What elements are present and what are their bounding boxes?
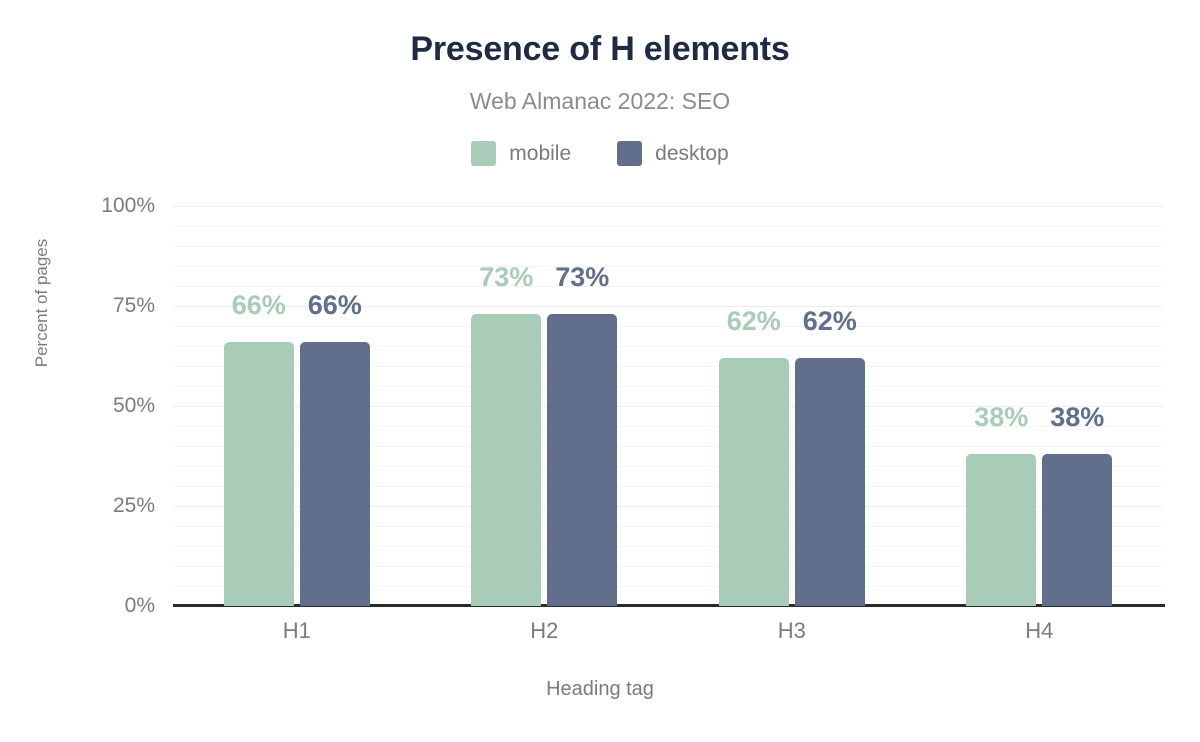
legend-swatch-mobile bbox=[471, 141, 496, 166]
bar-value-label-H2-desktop: 73% bbox=[502, 262, 662, 293]
bar-H3-mobile[interactable] bbox=[719, 358, 789, 606]
y-axis-tick-label: 0% bbox=[15, 594, 155, 618]
x-axis-tick-label-H2: H2 bbox=[444, 618, 644, 644]
chart-legend: mobiledesktop bbox=[0, 141, 1200, 166]
gridline bbox=[173, 206, 1163, 207]
legend-swatch-desktop bbox=[617, 141, 642, 166]
bar-H1-desktop[interactable] bbox=[300, 342, 370, 606]
gridline bbox=[173, 226, 1163, 227]
bar-value-label-H4-desktop: 38% bbox=[997, 402, 1157, 433]
legend-item-desktop[interactable]: desktop bbox=[617, 141, 729, 166]
y-axis-tick-label: 25% bbox=[15, 494, 155, 518]
gridline bbox=[173, 286, 1163, 287]
gridline bbox=[173, 246, 1163, 247]
bar-H4-desktop[interactable] bbox=[1042, 454, 1112, 606]
x-axis-title: Heading tag bbox=[0, 678, 1200, 701]
bar-H2-mobile[interactable] bbox=[471, 314, 541, 606]
bar-H2-desktop[interactable] bbox=[547, 314, 617, 606]
bar-H1-mobile[interactable] bbox=[224, 342, 294, 606]
bar-value-label-H3-desktop: 62% bbox=[750, 306, 910, 337]
bar-H4-mobile[interactable] bbox=[966, 454, 1036, 606]
bar-value-label-H1-desktop: 66% bbox=[255, 290, 415, 321]
x-axis-tick-label-H1: H1 bbox=[197, 618, 397, 644]
legend-label-mobile: mobile bbox=[509, 142, 571, 166]
legend-label-desktop: desktop bbox=[655, 142, 729, 166]
chart-title: Presence of H elements bbox=[0, 30, 1200, 69]
bar-chart: Presence of H elements Web Almanac 2022:… bbox=[0, 0, 1200, 742]
legend-item-mobile[interactable]: mobile bbox=[471, 141, 571, 166]
gridline bbox=[173, 266, 1163, 267]
gridline bbox=[173, 326, 1163, 327]
x-axis-tick-label-H3: H3 bbox=[692, 618, 892, 644]
chart-subtitle: Web Almanac 2022: SEO bbox=[0, 88, 1200, 115]
x-axis-tick-label-H4: H4 bbox=[939, 618, 1139, 644]
y-axis-title: Percent of pages bbox=[32, 193, 52, 413]
bar-H3-desktop[interactable] bbox=[795, 358, 865, 606]
